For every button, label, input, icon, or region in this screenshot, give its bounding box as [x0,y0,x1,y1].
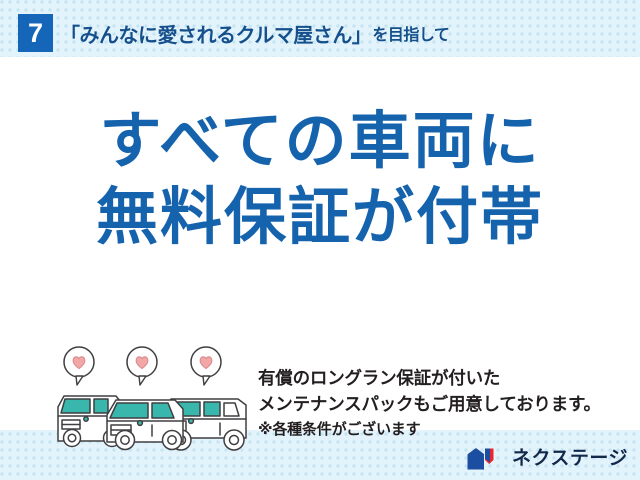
header-title-quoted: 「みんなに愛されるクルマ屋さん」 [60,19,371,48]
brand-logo-text: ネクステージ [512,446,628,472]
heart-bubble-1 [64,347,94,385]
headline-line-1: すべての車両に [0,104,640,180]
promo-banner: 7 「みんなに愛されるクルマ屋さん」 を目指して すべての車両に 無料保証が付帯 [0,0,640,480]
headline-line-2: 無料保証が付帯 [0,180,640,256]
nexstage-n-mark-icon [466,446,506,472]
description-block: 有償のロングラン保証が付いた メンテナンスパックもご用意しております。 ※各種条… [258,365,601,443]
heart-bubble-3 [191,347,221,385]
description-note: ※各種条件がございます [258,417,601,443]
heart-bubble-2 [127,347,157,385]
description-line-2: メンテナンスパックもご用意しております。 [258,391,601,417]
page-title: すべての車両に 無料保証が付帯 [0,104,640,256]
cars-illustration [50,343,260,453]
content-panel: すべての車両に 無料保証が付帯 [0,57,640,430]
header: 7 「みんなに愛されるクルマ屋さん」 を目指して [0,0,640,57]
description-line-1: 有償のロングラン保証が付いた [258,365,601,391]
header-title: 「みんなに愛されるクルマ屋さん」 を目指して [60,16,449,50]
car-minivan [107,400,183,450]
lower-content: 有償のロングラン保証が付いた メンテナンスパックもご用意しております。 ※各種条… [0,285,640,410]
section-number-badge: 7 [18,14,53,52]
cars-illustration-svg [50,343,260,453]
brand-logo: ネクステージ [466,444,628,474]
header-title-rest: を目指して [371,21,449,45]
